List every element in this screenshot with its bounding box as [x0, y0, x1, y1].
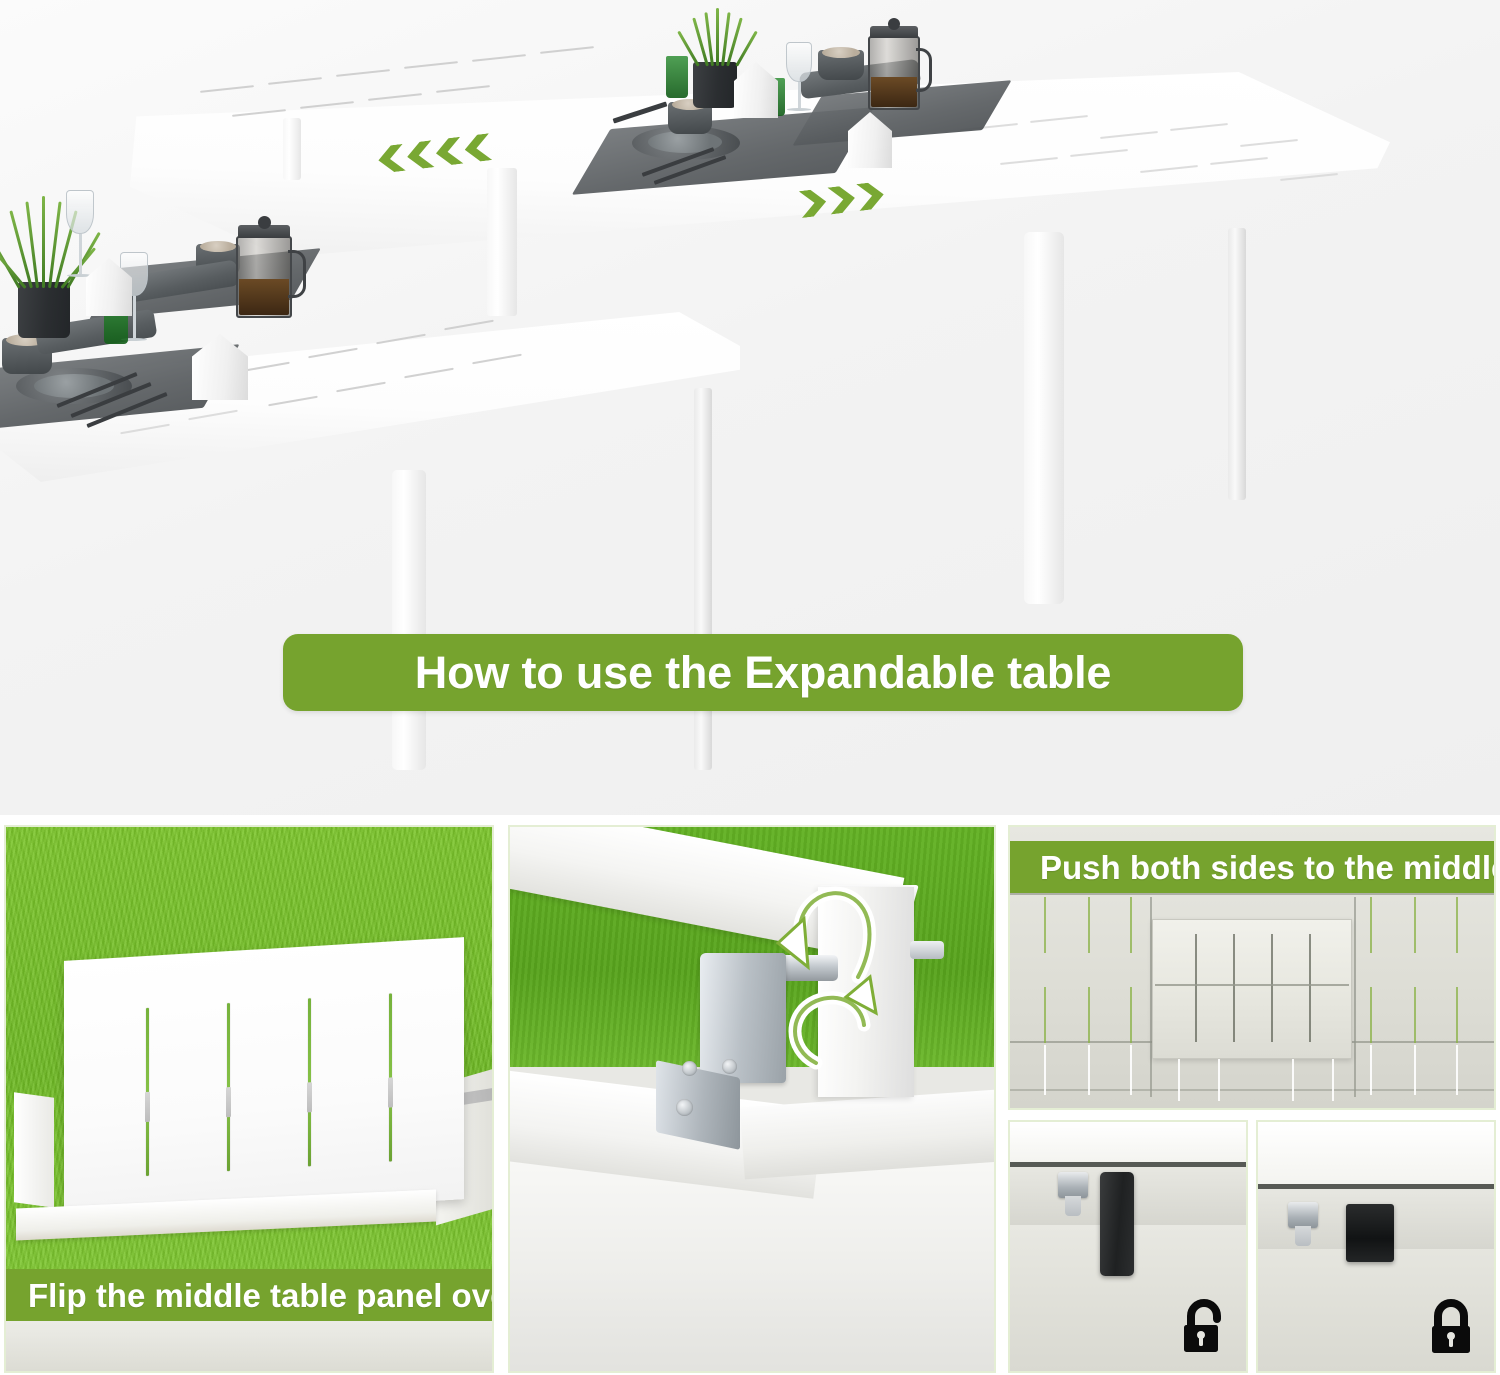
chevron-icon: [799, 188, 828, 218]
latch-closed: [1346, 1204, 1394, 1262]
table-leg: [392, 470, 426, 770]
french-press: [236, 236, 292, 318]
banner-title: How to use the Expandable table: [415, 650, 1111, 695]
table-leg: [487, 168, 517, 316]
instruction-panels: Flip the middle table panel over: [0, 825, 1500, 1375]
panel-slot: [227, 1003, 230, 1171]
panel-flip-middle-panel: Flip the middle table panel over: [4, 825, 494, 1373]
cup-contents: [200, 241, 236, 252]
rotation-arrows-icon: [754, 873, 884, 1093]
table-leg: [283, 118, 301, 180]
panel-push-sides: Push both sides to the middle: [1008, 825, 1496, 1110]
chevron-icon: [406, 140, 435, 170]
panel-hinge-detail: [508, 825, 996, 1373]
unlock-icon: [1178, 1299, 1230, 1357]
plant-pot: [18, 282, 70, 338]
milk-carton: [734, 62, 778, 118]
latch-open: [1100, 1172, 1134, 1276]
hero-product-image: How to use the Expandable table: [0, 0, 1500, 815]
wine-glass: [62, 190, 98, 282]
lock-icon: [1426, 1299, 1478, 1357]
hinge-pivot-pin: [910, 941, 944, 959]
chevron-icon: [827, 185, 856, 215]
cup-contents: [822, 47, 860, 58]
main-banner: How to use the Expandable table: [283, 634, 1243, 711]
middle-panel-seated: [1152, 919, 1352, 1059]
table-leg: [1228, 228, 1246, 500]
middle-table-panel: [64, 937, 464, 1223]
panel-slot: [146, 1008, 149, 1176]
table-frame-left: [14, 1092, 54, 1208]
caption-text: Flip the middle table panel over: [28, 1279, 494, 1312]
panel-latch-unlocked: [1008, 1120, 1248, 1373]
screw-icon: [676, 1099, 693, 1116]
screw-icon: [722, 1059, 737, 1074]
table-leg: [694, 388, 712, 770]
rosemary-plant: [686, 8, 748, 66]
panel-latch-locked: [1256, 1120, 1496, 1373]
caption-text: Push both sides to the middle: [1040, 851, 1496, 884]
screw-icon: [682, 1061, 697, 1076]
table-leg: [1024, 232, 1064, 604]
wine-glass: [782, 42, 816, 114]
panel-slot: [308, 998, 311, 1166]
panel-slot: [389, 993, 392, 1161]
chevron-icon: [856, 181, 885, 211]
green-glass: [666, 56, 688, 98]
chevron-icon: [434, 137, 463, 167]
french-press: [868, 36, 920, 110]
caption-flip: Flip the middle table panel over: [6, 1269, 494, 1321]
caption-push: Push both sides to the middle: [1010, 841, 1496, 893]
chevron-icon: [463, 133, 492, 163]
chevron-icon: [377, 144, 406, 174]
plant-pot: [693, 62, 737, 108]
